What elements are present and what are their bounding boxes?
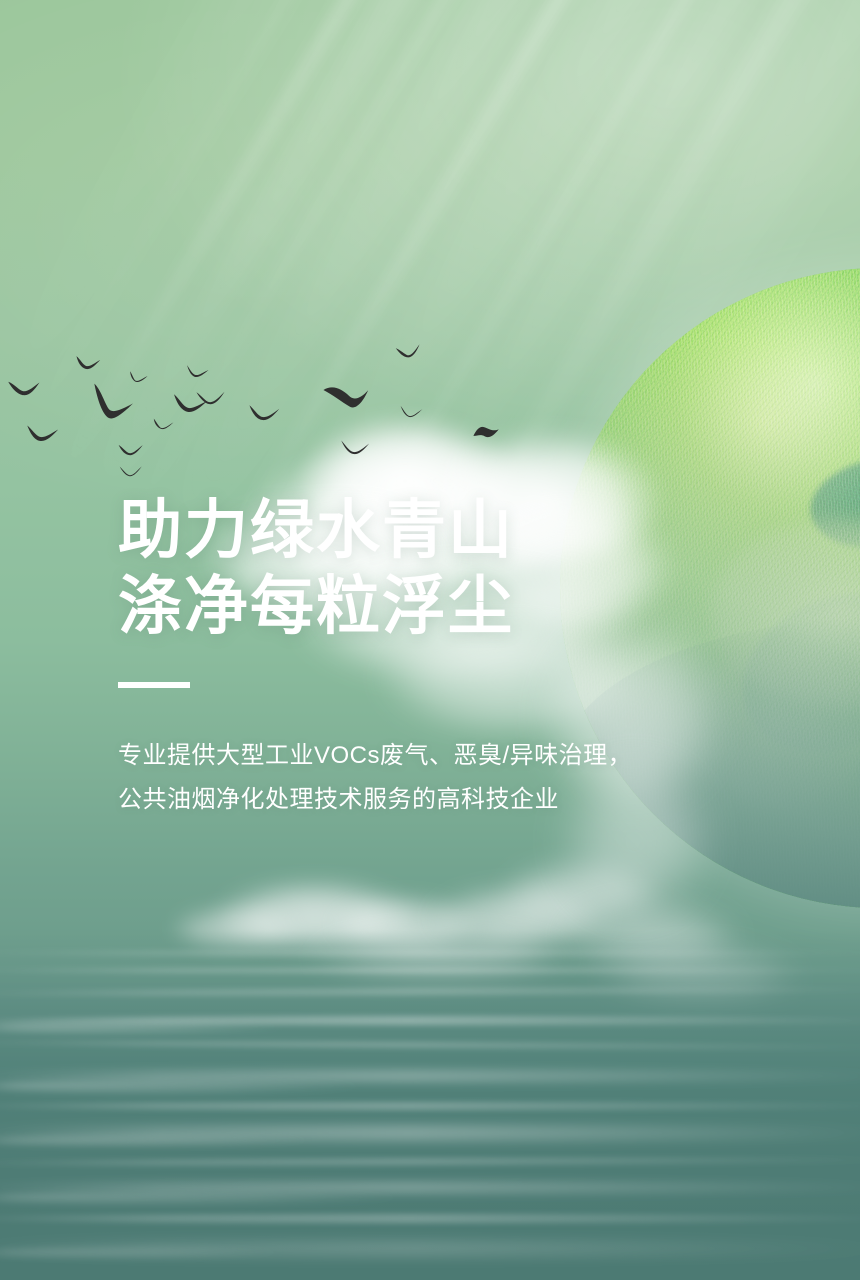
headline-line-1: 助力绿水青山 (118, 493, 738, 569)
eco-hero-poster: 助力绿水青山 涤净每粒浮尘 专业提供大型工业VOCs废气、恶臭/异味治理， 公共… (0, 0, 860, 1280)
headline-line-2: 涤净每粒浮尘 (118, 569, 738, 645)
hero-subtitle: 专业提供大型工业VOCs废气、恶臭/异味治理， 公共油烟净化处理技术服务的高科技… (118, 734, 738, 823)
hero-text-block: 助力绿水青山 涤净每粒浮尘 专业提供大型工业VOCs废气、恶臭/异味治理， 公共… (118, 493, 738, 823)
subtitle-line-1: 专业提供大型工业VOCs废气、恶臭/异味治理， (118, 734, 738, 778)
subtitle-line-2: 公共油烟净化处理技术服务的高科技企业 (118, 778, 738, 822)
page-title: 助力绿水青山 涤净每粒浮尘 (118, 493, 738, 644)
water-surface (0, 930, 860, 1280)
title-divider (118, 682, 190, 688)
